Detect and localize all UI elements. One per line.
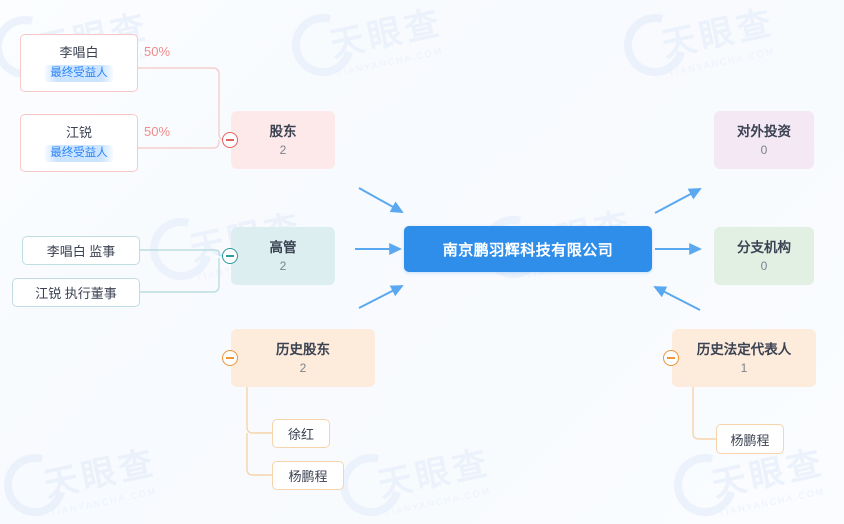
group-node-outbound-investment[interactable]: 对外投资 0	[714, 111, 814, 169]
minus-circle-icon[interactable]	[222, 132, 238, 148]
person-chip-executive[interactable]: 李唱白 监事	[22, 236, 140, 265]
person-chip-historical-shareholder[interactable]: 徐红	[272, 419, 330, 448]
group-node-shareholders[interactable]: 股东 2	[231, 111, 335, 169]
minus-circle-icon[interactable]	[222, 350, 238, 366]
group-count: 1	[741, 360, 748, 376]
person-chip-historical-shareholder[interactable]: 杨鹏程	[272, 461, 344, 490]
group-node-branches[interactable]: 分支机构 0	[714, 227, 814, 285]
ownership-percent-label: 50%	[144, 124, 170, 139]
group-node-executives[interactable]: 高管 2	[231, 227, 335, 285]
person-name: 徐红	[288, 424, 314, 443]
company-name: 南京鹏羽辉科技有限公司	[443, 239, 614, 260]
person-card-shareholder[interactable]: 江锐 最终受益人	[20, 114, 138, 172]
person-name: 杨鹏程	[730, 430, 769, 449]
group-title: 历史法定代表人	[697, 341, 792, 358]
group-count: 2	[280, 258, 287, 274]
group-title: 对外投资	[737, 123, 791, 140]
org-chart-canvas: 天眼查 TIANYANCHA.COM 天眼查 TIANYANCHA.COM 天眼…	[0, 0, 844, 524]
person-name: 李唱白 监事	[47, 241, 116, 260]
group-count: 0	[761, 258, 768, 274]
person-tag: 最终受益人	[45, 65, 113, 82]
person-name: 江锐 执行董事	[35, 283, 117, 302]
group-count: 2	[300, 360, 307, 376]
minus-circle-icon[interactable]	[222, 248, 238, 264]
person-chip-historical-legal-rep[interactable]: 杨鹏程	[716, 424, 784, 454]
person-tag: 最终受益人	[45, 145, 113, 162]
person-name: 杨鹏程	[288, 466, 327, 485]
group-title: 高管	[270, 239, 297, 256]
group-count: 2	[280, 142, 287, 158]
group-title: 历史股东	[276, 341, 330, 358]
group-node-historical-shareholders[interactable]: 历史股东 2	[231, 329, 375, 387]
group-title: 股东	[270, 123, 297, 140]
center-company-node[interactable]: 南京鹏羽辉科技有限公司	[404, 226, 652, 272]
group-count: 0	[761, 142, 768, 158]
person-chip-executive[interactable]: 江锐 执行董事	[12, 278, 140, 307]
group-node-historical-legal-rep[interactable]: 历史法定代表人 1	[672, 329, 816, 387]
person-card-shareholder[interactable]: 李唱白 最终受益人	[20, 34, 138, 92]
group-title: 分支机构	[737, 239, 791, 256]
minus-circle-icon[interactable]	[663, 350, 679, 366]
person-name: 李唱白	[59, 44, 98, 62]
ownership-percent-label: 50%	[144, 44, 170, 59]
person-name: 江锐	[66, 124, 92, 142]
